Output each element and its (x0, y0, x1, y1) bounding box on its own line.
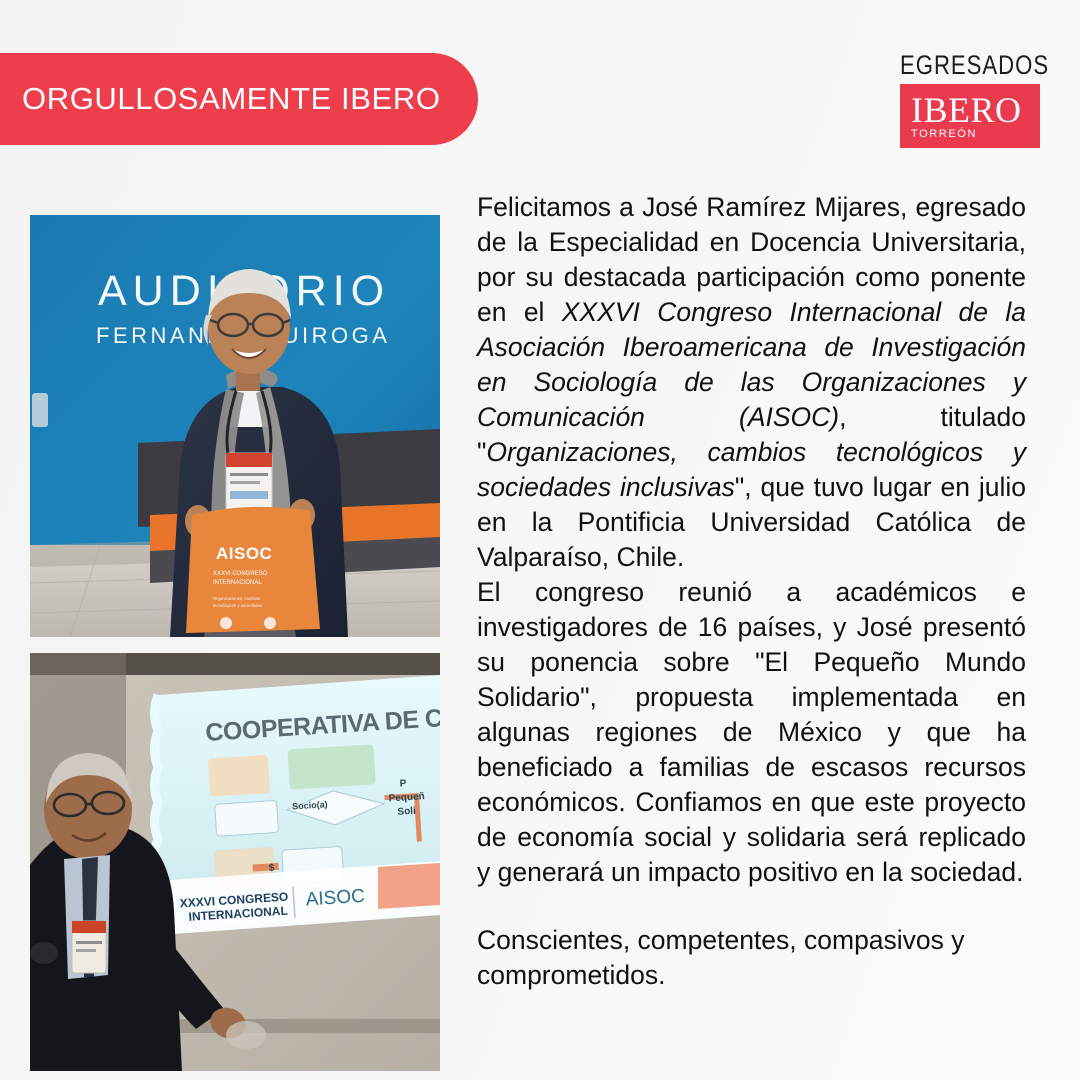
svg-text:AISOC: AISOC (216, 544, 272, 563)
presentation-photo: COOPERATIVA DE CONSUM Socio(a) $ P Peque… (30, 653, 440, 1071)
svg-text:XXXVI CONGRESO: XXXVI CONGRESO (213, 571, 268, 577)
article-body: Felicitamos a José Ramírez Mijares, egre… (477, 190, 1026, 993)
svg-text:AISOC: AISOC (305, 886, 365, 911)
article-paragraph-1: Felicitamos a José Ramírez Mijares, egre… (477, 190, 1026, 575)
svg-text:P: P (399, 778, 407, 789)
svg-text:Organizaciones, cambios: Organizaciones, cambios (213, 596, 260, 601)
auditorium-portrait-photo: AUDITORIO FERNANDO QUIROGA (30, 215, 440, 637)
article-closing-slogan: Conscientes, competentes, compasivos y c… (477, 923, 1026, 993)
ibero-logo: EGRESADOS IBERO TORREÓN (900, 50, 1040, 148)
banner-label: ORGULLOSAMENTE IBERO (0, 81, 441, 117)
svg-text:tecnológicos y sociedades: tecnológicos y sociedades (213, 603, 262, 608)
logo-brand-name: IBERO (911, 93, 1040, 127)
svg-text:Pequeñ: Pequeñ (388, 791, 425, 804)
svg-text:INTERNACIONAL: INTERNACIONAL (213, 580, 262, 586)
header-banner: ORGULLOSAMENTE IBERO (0, 53, 478, 145)
logo-egresados-word: EGRESADOS (900, 50, 1015, 80)
article-paragraph-2: El congreso reunió a académicos e invest… (477, 575, 1026, 890)
logo-red-box: IBERO TORREÓN (900, 84, 1040, 148)
poster-canvas: ORGULLOSAMENTE IBERO EGRESADOS IBERO TOR… (0, 0, 1080, 1080)
svg-text:Soli: Soli (397, 806, 416, 818)
logo-campus-name: TORREÓN (911, 128, 1040, 140)
